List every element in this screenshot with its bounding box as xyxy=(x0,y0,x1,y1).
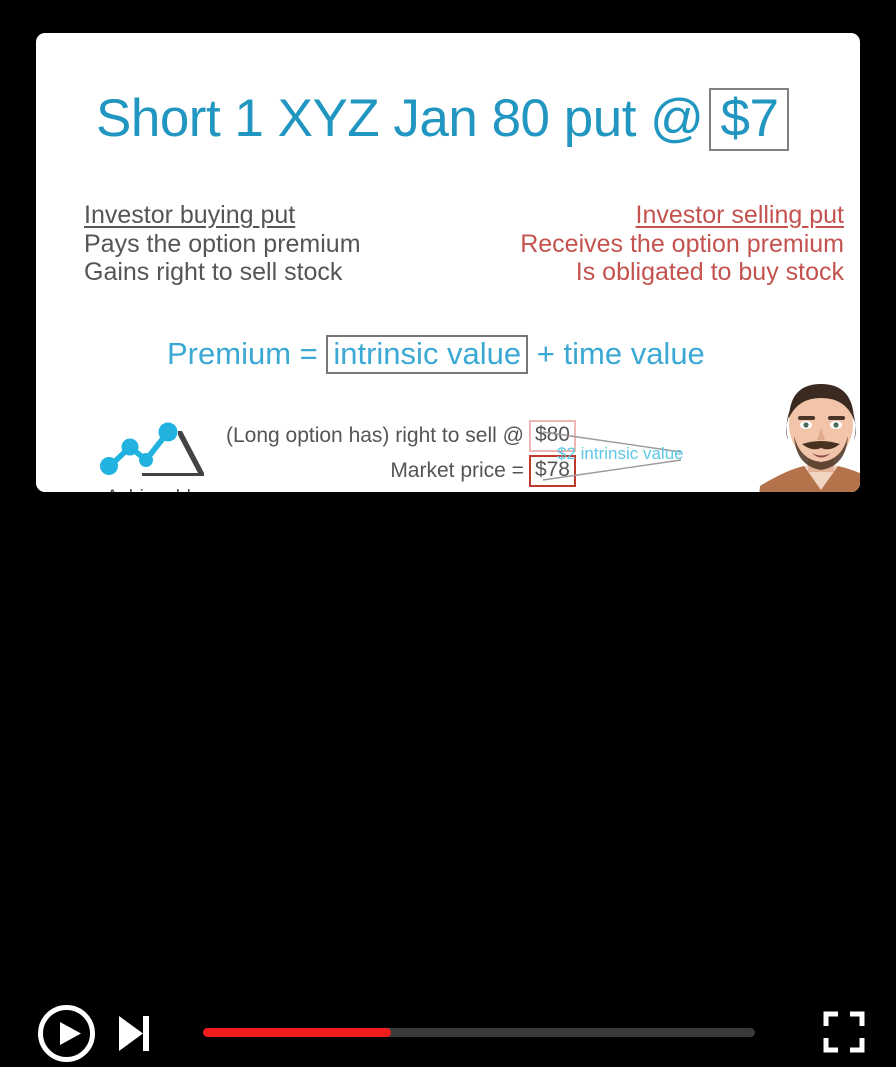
intrinsic-value-example: (Long option has) right to sell @ $80 Ma… xyxy=(196,421,576,486)
slide-title-text: Short 1 XYZ Jan 80 put @ xyxy=(96,89,703,148)
premium-formula: Premium = intrinsic value + time value xyxy=(167,335,705,374)
premium-formula-prefix: Premium = xyxy=(167,336,318,371)
slide-canvas: Short 1 XYZ Jan 80 put @$7 Investor buyi… xyxy=(36,33,860,492)
seller-heading: Investor selling put xyxy=(520,201,844,230)
fullscreen-icon[interactable] xyxy=(822,1010,866,1054)
next-button[interactable] xyxy=(113,1013,153,1054)
presenter-webcam-overlay xyxy=(746,378,860,492)
seller-line-1: Receives the option premium xyxy=(520,230,844,259)
buyer-column: Investor buying put Pays the option prem… xyxy=(84,201,361,287)
buyer-heading: Investor buying put xyxy=(84,201,361,230)
example-row-market: Market price = $78 xyxy=(196,456,576,486)
seller-line-2: Is obligated to buy stock xyxy=(520,258,844,287)
buyer-line-1: Pays the option premium xyxy=(84,230,361,259)
achievable-logo-mark xyxy=(94,419,214,487)
progress-bar-track[interactable] xyxy=(203,1028,755,1037)
play-button[interactable] xyxy=(38,1005,95,1062)
buyer-line-2: Gains right to sell stock xyxy=(84,258,361,287)
play-icon[interactable] xyxy=(38,1005,95,1062)
premium-formula-suffix: + time value xyxy=(537,336,705,371)
slide-title-premium-box: $7 xyxy=(709,88,789,151)
seller-column: Investor selling put Receives the option… xyxy=(520,201,844,287)
video-player: Short 1 XYZ Jan 80 put @$7 Investor buyi… xyxy=(0,0,896,603)
progress-bar-fill xyxy=(203,1028,391,1037)
intrinsic-value-callout: $2 intrinsic value xyxy=(557,444,684,464)
player-controls-bar xyxy=(0,492,896,603)
achievable-logo: Achievable xyxy=(94,419,214,492)
example-market-label: Market price = xyxy=(390,459,524,483)
fullscreen-button[interactable] xyxy=(822,1010,866,1054)
slide-title: Short 1 XYZ Jan 80 put @$7 xyxy=(96,88,789,151)
example-row-strike: (Long option has) right to sell @ $80 xyxy=(196,421,576,451)
presenter-portrait xyxy=(746,378,860,492)
intrinsic-value-box: intrinsic value xyxy=(326,335,528,374)
skip-next-icon[interactable] xyxy=(113,1013,153,1054)
example-strike-label: (Long option has) right to sell @ xyxy=(226,424,524,448)
